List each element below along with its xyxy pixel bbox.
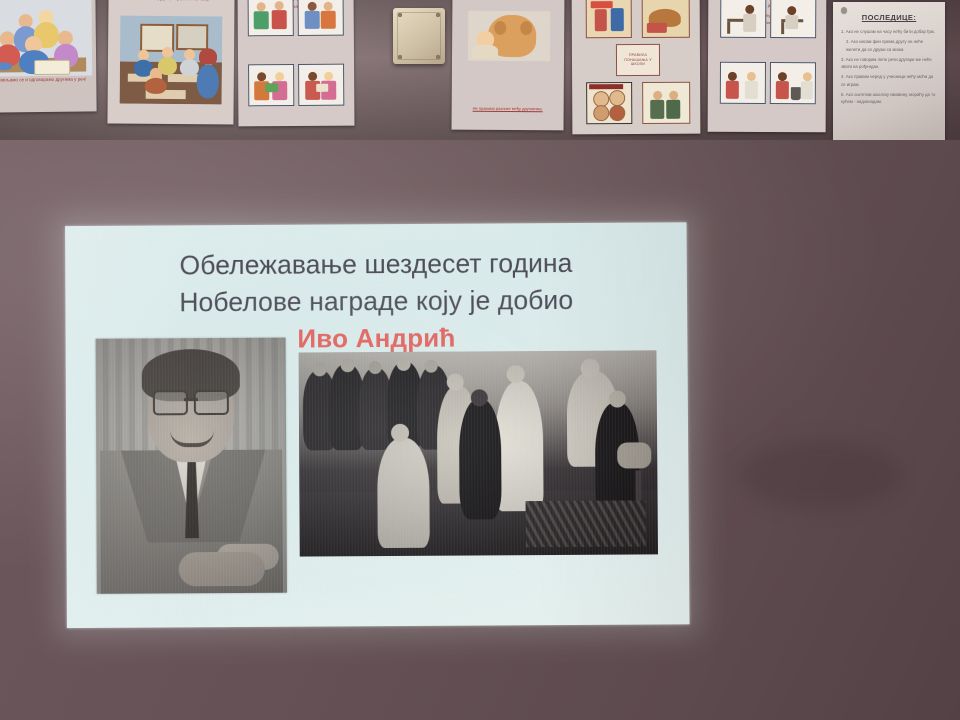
ceremony-photo [299,350,658,556]
screw-icon [398,13,402,17]
photo-vignette [299,350,658,556]
children-figures [0,0,92,77]
comic-panel [720,0,766,38]
screw-icon [436,55,440,59]
poster-caption: Не правимо разлике међу друговима. [452,106,564,112]
poster-school-rules: ПРАВИЛА ПОНАШАЊА У ШКОЛИ [572,0,701,134]
push-pin-icon [841,7,847,13]
consequences-list: 1. Ако не слушам на часу нећу бити добар… [841,28,937,106]
list-item: 2. Ако нисам фин према другу он неће жел… [841,38,937,53]
screw-icon [436,13,440,17]
poster-raising-hands: Јављамо се и одговарамо другима у реч! [0,0,97,113]
comic-panel [248,64,294,106]
title-line-2: Нобелове награде коју је добио [65,281,687,322]
poster-illustration [0,0,92,77]
comic-panel [642,0,690,38]
rules-center-label: ПРАВИЛА ПОНАШАЊА У ШКОЛИ [616,44,660,76]
poster-illustration [468,11,550,62]
poster-caption-top: Понашамо друга, слушамо на часу. [108,0,234,3]
comic-panel [770,62,816,104]
poster-tidy-classroom: На столици се седи пристојно, не криви с… [708,0,827,132]
list-item: 3. Ако не говорим лепе речи другари ме н… [841,56,937,71]
comic-panel [642,82,690,124]
projected-slide: Обележавање шездесет година Нобелове наг… [65,222,689,628]
photo-scene: Јављамо се и одговарамо другима у реч! П… [0,0,960,720]
poster-no-violence: Лепо се понашамо једни према другима. За… [238,0,355,126]
comic-panel [770,0,816,38]
electrical-junction-box [393,8,445,64]
comic-panel [298,64,344,106]
list-item: 5. Ако оштетим школску имовину, мораћу д… [841,91,937,106]
comic-panel [586,0,632,38]
poster-caption: Јављамо се и одговарамо другима у реч! [0,76,96,84]
rules-label-text: ПРАВИЛА ПОНАШАЊА У ШКОЛИ [617,53,659,68]
poster-talk-problems: Разговором до проблема. Прихватамо једни… [452,0,565,130]
comic-panel [298,0,344,36]
consequences-heading: ПОСЛЕДИЦЕ: [841,13,937,22]
list-item: 1. Ако не слушам на часу нећу бити добар… [841,28,937,35]
comic-panel [248,0,294,36]
poster-classroom: Понашамо друга, слушамо на часу. [107,0,234,125]
title-line-1: Обележавање шездесет година [65,244,687,285]
poster-illustration [120,16,223,105]
comic-panel [720,62,766,104]
comic-panel [586,82,632,124]
portrait-photo [96,338,287,594]
photo-vignette [96,338,287,594]
screw-icon [398,55,402,59]
poster-consequences: ПОСЛЕДИЦЕ: 1. Ако не слушам на часу нећу… [833,2,945,142]
bulletin-board: Јављамо се и одговарамо другима у реч! П… [0,0,960,145]
list-item: 4. Ако правим неред у учионици нећу моћи… [841,73,937,88]
slide-surface: Обележавање шездесет година Нобелове наг… [65,222,689,628]
wall-smudge [740,440,900,510]
